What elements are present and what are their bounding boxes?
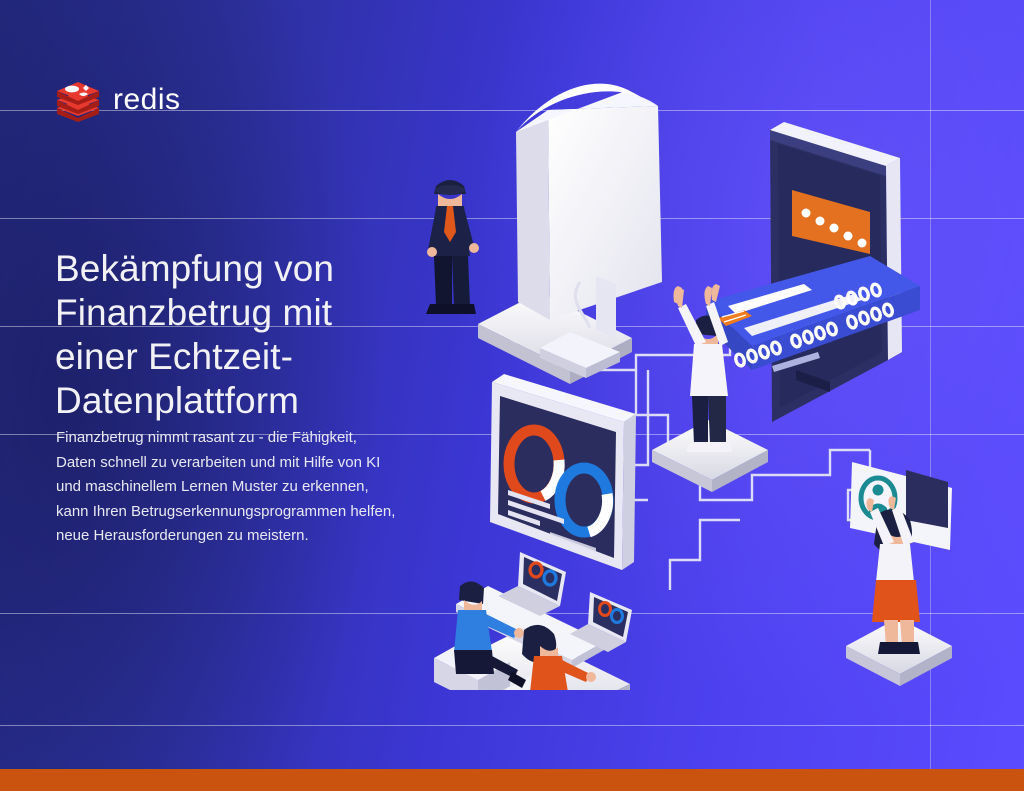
poster-page: redis Bekämpfung von Finanzbetrug mit ei… <box>0 0 1024 791</box>
desk-node <box>434 552 632 690</box>
monitor-stand <box>596 276 616 338</box>
identity-node <box>846 462 952 686</box>
brand-logo[interactable]: redis <box>55 78 181 122</box>
footer-accent-bar <box>0 769 1024 791</box>
brand-name: redis <box>113 83 181 117</box>
dashboard-node <box>490 374 636 570</box>
redis-stack-logo-icon <box>55 78 101 122</box>
page-subtitle: Finanzbetrug nimmt rasant zu - die Fähig… <box>56 426 396 549</box>
isometric-illustration <box>400 70 1024 690</box>
page-title: Bekämpfung von Finanzbetrug mit einer Ec… <box>55 247 395 423</box>
businessman-figure <box>426 180 479 314</box>
monitor-node <box>426 84 662 384</box>
